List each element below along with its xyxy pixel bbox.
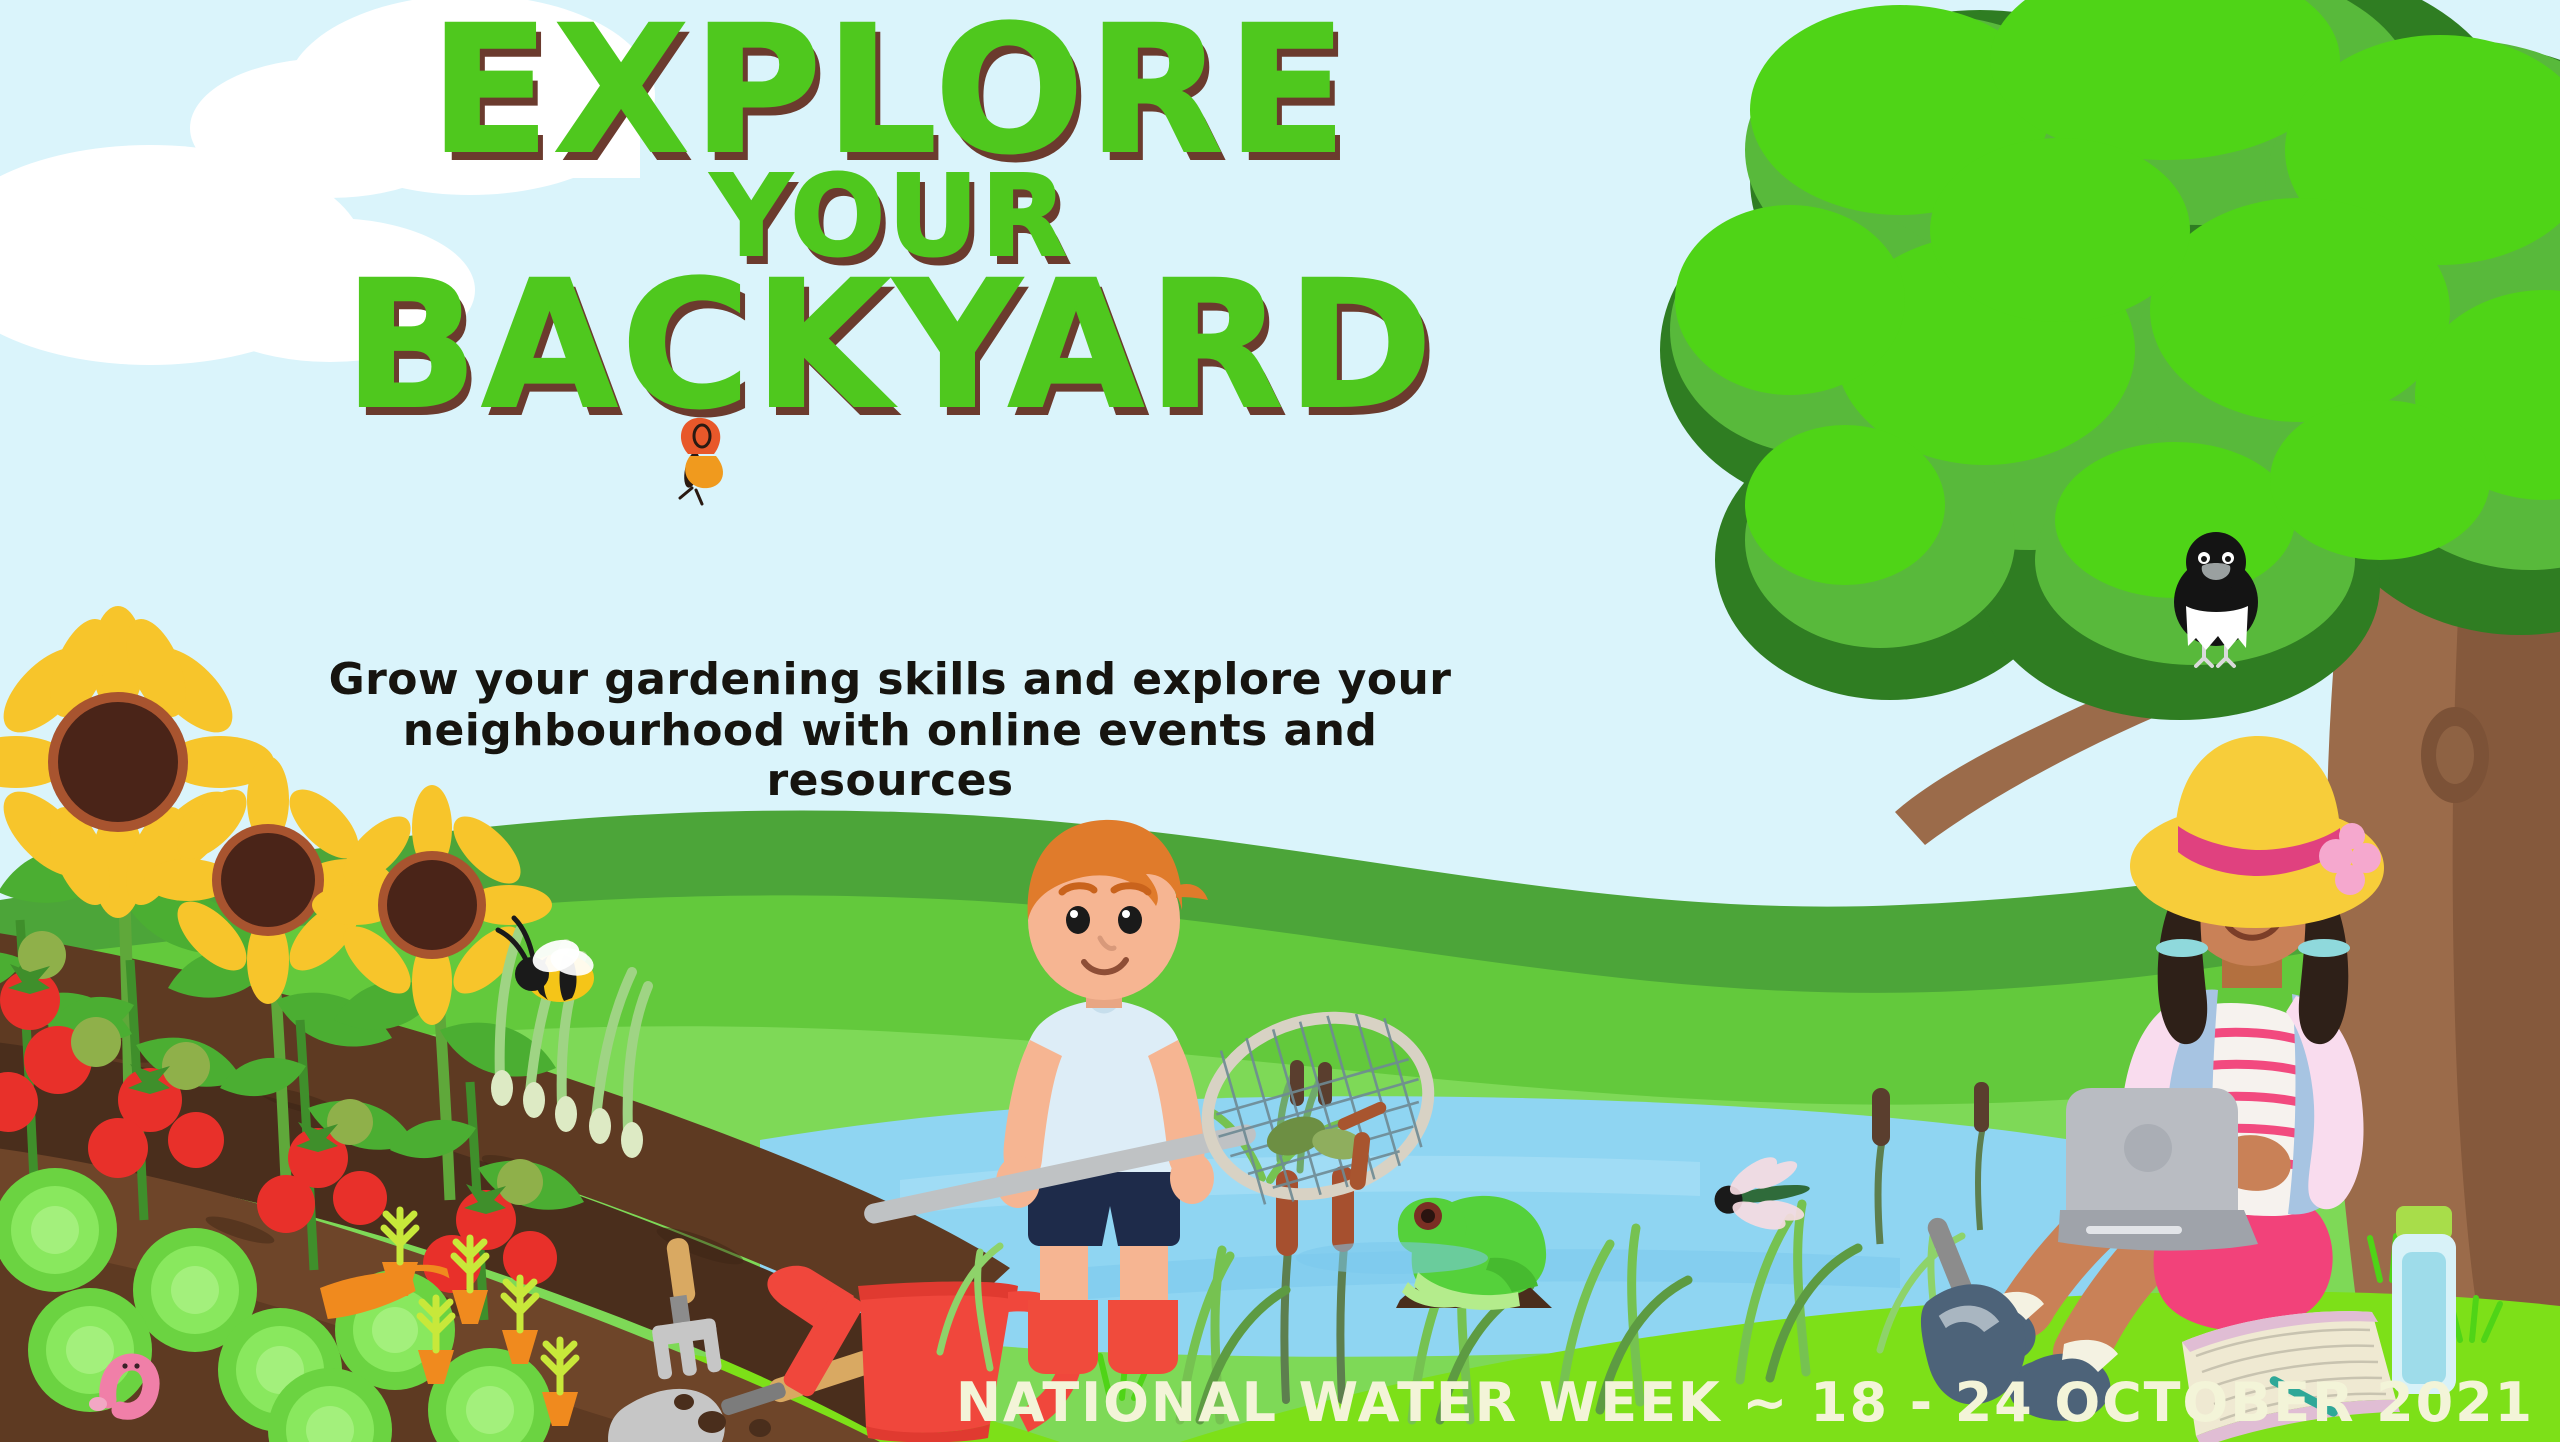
tree-knot-inner xyxy=(2436,726,2474,784)
water-bottle xyxy=(2392,1206,2456,1394)
poster-subtitle: Grow your gardening skills and explore y… xyxy=(300,655,1480,807)
subtitle-line-1: Grow your gardening skills and explore y… xyxy=(300,655,1480,706)
boy-boot-right xyxy=(1108,1300,1178,1374)
frog-shadow xyxy=(1296,1242,1488,1274)
subtitle-line-2: neighbourhood with online events and res… xyxy=(300,706,1480,807)
magpie-head xyxy=(2186,532,2246,592)
tree-canopy-light xyxy=(1675,0,2560,598)
boy-boot-left xyxy=(1028,1300,1098,1374)
event-banner-text: NATIONAL WATER WEEK ~ 18 - 24 OCTOBER 20… xyxy=(956,1371,2534,1434)
poster-canvas: EXPLORE YOUR BACKYARD Grow your gardenin… xyxy=(0,0,2560,1442)
laptop xyxy=(2058,1088,2258,1251)
boy-hand-right xyxy=(1170,1152,1214,1204)
